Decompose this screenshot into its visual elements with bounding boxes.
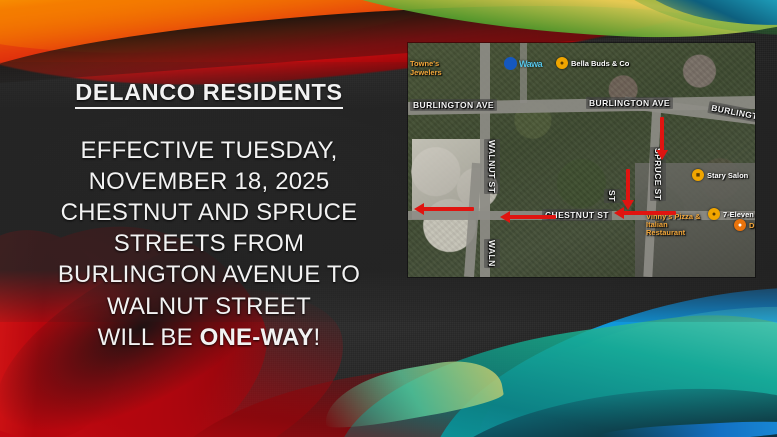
street-label-spruce-st-lower: ST [604, 189, 620, 203]
dunkin-pin-icon: ● [734, 219, 746, 231]
stary-salon-pin-icon: ■ [692, 169, 704, 181]
poi-gas-station-marker: Wawa [504, 57, 542, 70]
announcement-text-block: DELANCO RESIDENTS EFFECTIVE TUESDAY, NOV… [18, 80, 400, 353]
body-line-5: BURLINGTON AVENUE TO [18, 259, 400, 290]
poi-townes-jewelers-line2: Jewelers [410, 68, 442, 77]
arrow-shaft [622, 211, 676, 215]
street-label-burlington-ave-center: BURLINGTON AVE [586, 97, 673, 109]
one-way-arrow-chestnut-west [500, 211, 556, 223]
poi-townes-jewelers: Towne's Jewelers [410, 59, 442, 77]
arrow-shaft [422, 207, 474, 211]
one-way-arrow-walnut-west [414, 203, 474, 215]
body-line-final: WILL BE ONE-WAY! [18, 322, 400, 353]
one-way-arrow-spruce-south-2 [622, 169, 634, 209]
final-line-suffix: ! [314, 324, 321, 351]
arrow-shaft [626, 169, 630, 201]
body-line-6: WALNUT STREET [18, 291, 400, 322]
one-way-arrow-spruce-south [656, 117, 668, 159]
final-line-prefix: WILL BE [98, 324, 200, 351]
body-line-1: EFFECTIVE TUESDAY, [18, 135, 400, 166]
body-line-2: NOVEMBER 18, 2025 [18, 166, 400, 197]
poi-townes-jewelers-line1: Towne's [410, 59, 439, 68]
body-line-4: STREETS FROM [18, 228, 400, 259]
street-label-walnut-st-lower: WALN [484, 239, 500, 268]
announcement-body: EFFECTIVE TUESDAY, NOVEMBER 18, 2025 CHE… [18, 135, 400, 353]
page-title: DELANCO RESIDENTS [75, 80, 342, 109]
poi-dunkin: ● Du [734, 219, 755, 231]
poi-stary-salon: ■ Stary Salon [692, 169, 748, 181]
satellite-map-image: BURLINGTON AVE BURLINGTON AVE BURLINGT C… [408, 43, 755, 277]
map-road-minor [520, 43, 527, 103]
gas-station-label: Wawa [519, 59, 542, 69]
final-line-emphasis: ONE-WAY [200, 324, 314, 351]
street-label-walnut-st: WALNUT ST [484, 139, 500, 194]
poi-7-eleven-label: 7-Eleven [723, 210, 754, 219]
gas-station-pin-icon [504, 57, 517, 70]
poi-bella-buds-label: Bella Buds & Co [571, 59, 629, 68]
poi-dunkin-label: Du [749, 221, 755, 230]
body-line-3: CHESTNUT AND SPRUCE [18, 197, 400, 228]
arrow-head-icon [622, 200, 634, 210]
street-label-burlington-ave-west: BURLINGTON AVE [410, 99, 497, 111]
seven-eleven-pin-icon: ● [708, 208, 720, 220]
bella-buds-pin-icon: ● [556, 57, 568, 69]
poi-stary-salon-label: Stary Salon [707, 171, 748, 180]
poster-canvas: DELANCO RESIDENTS EFFECTIVE TUESDAY, NOV… [0, 0, 777, 437]
arrow-shaft [660, 117, 664, 151]
arrow-shaft [508, 215, 556, 219]
poi-bella-buds-and-co: ● Bella Buds & Co [556, 57, 629, 69]
arrow-head-icon [656, 150, 668, 160]
